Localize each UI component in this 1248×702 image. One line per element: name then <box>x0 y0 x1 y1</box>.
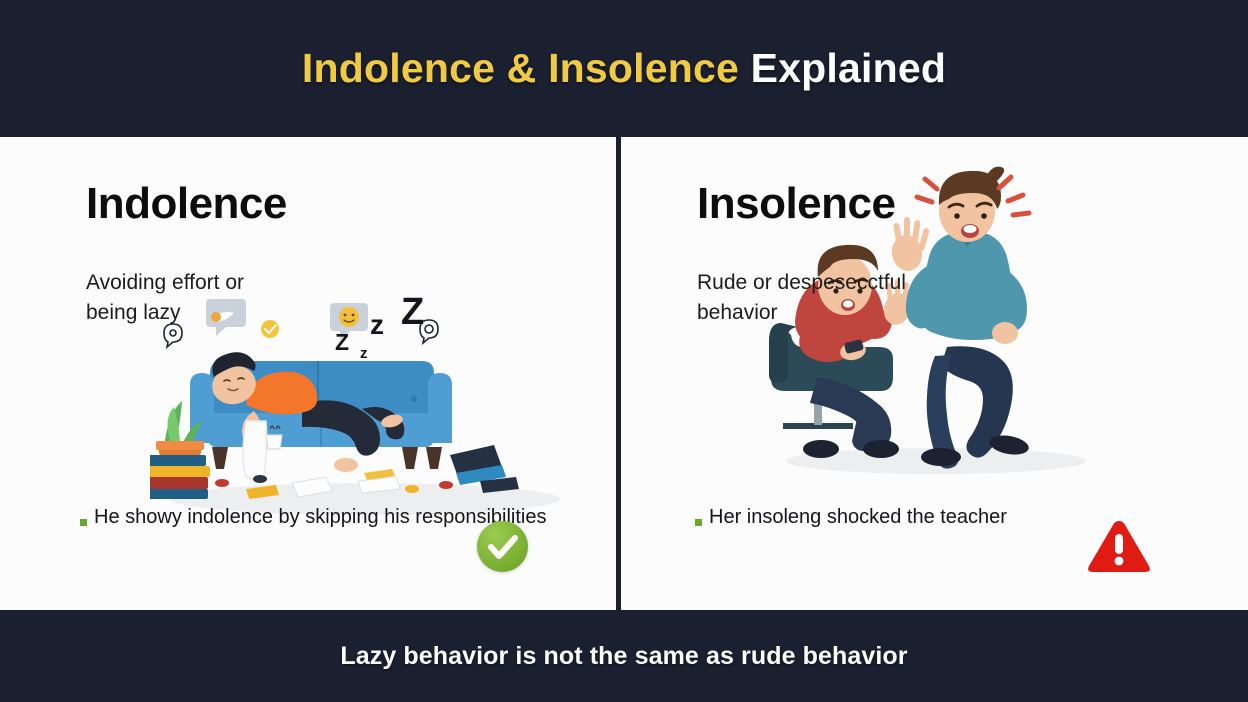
infographic-slide: Indolence & Insolence Explained Indolenc… <box>0 0 1248 702</box>
example-text: Her insoleng shocked the teacher <box>709 506 1007 529</box>
sleep-z-small: Z <box>335 329 349 356</box>
bullet-icon <box>695 519 702 526</box>
check-badge <box>477 521 528 572</box>
title-highlight: Indolence & Insolence <box>302 45 739 91</box>
content-area: Indolence Avoiding effort or being lazy <box>0 137 1248 610</box>
page-title: Indolence & Insolence Explained <box>302 45 946 92</box>
check-icon <box>477 521 528 572</box>
footer-banner: Lazy behavior is not the same as rude be… <box>0 610 1248 702</box>
sleep-z-tiny: z <box>360 345 368 362</box>
sleep-z-large: Z <box>401 291 424 334</box>
panel-subtitle-indolence: Avoiding effort or being lazy <box>86 268 386 328</box>
bullet-icon <box>80 519 87 526</box>
example-sentence-insolence: Her insoleng shocked the teacher <box>695 506 1007 529</box>
warning-triangle-icon <box>1086 518 1152 576</box>
panel-insolence: Insolence Rude or despesecctful behavior <box>621 137 1248 610</box>
panel-subtitle-insolence: Rude or despesecctful behavior <box>697 268 1037 328</box>
panel-heading-indolence: Indolence <box>86 179 287 229</box>
header-banner: Indolence & Insolence Explained <box>0 0 1248 137</box>
footer-text: Lazy behavior is not the same as rude be… <box>340 642 907 671</box>
panel-heading-insolence: Insolence <box>697 179 895 229</box>
warning-badge <box>1086 518 1152 576</box>
title-rest: Explained <box>739 45 946 91</box>
